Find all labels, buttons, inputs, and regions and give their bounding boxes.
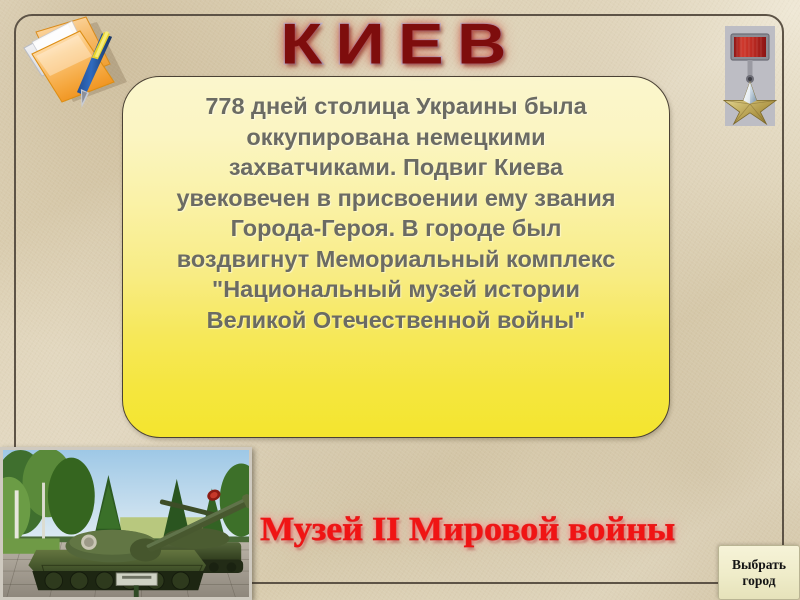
choose-city-button[interactable]: Выбрать город [718,545,800,600]
slide-title-text: КИЕВ [280,15,519,72]
choose-city-button-label: Выбрать город [732,557,786,588]
content-text-panel: 778 дней столица Украины была оккупирова… [122,76,670,438]
photo-caption: Музей II Мировой войны [258,513,678,547]
photo-caption-text: Музей II Мировой войны [261,513,676,547]
presentation-slide: КИЕВ [0,0,800,600]
gold-star-hero-medal-icon [722,24,778,128]
slide-title: КИЕВ [0,16,800,72]
content-paragraph: 778 дней столица Украины была оккупирова… [145,91,647,335]
war-museum-tanks-photo [0,447,252,600]
